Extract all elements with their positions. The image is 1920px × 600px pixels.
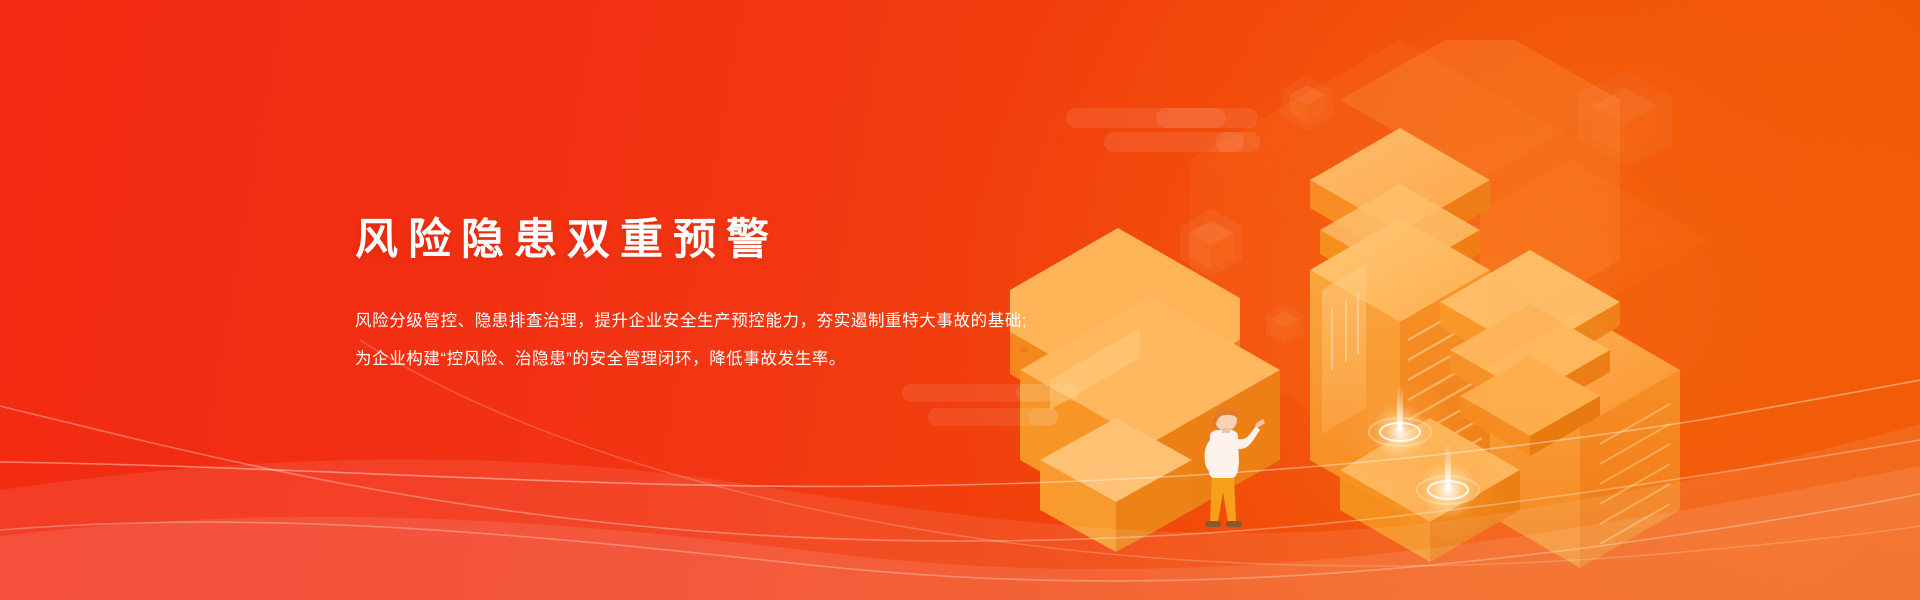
cloud-bar: [902, 384, 1052, 402]
cloud-bar: [1104, 132, 1244, 152]
cloud-bar: [1066, 108, 1226, 128]
banner-copy: 风险隐患双重预警 风险分级管控、隐患排查治理，提升企业安全生产预控能力，夯实遏制…: [355, 212, 1135, 378]
wave-fill-back: [0, 424, 1920, 600]
description-line-2: 为企业构建“控风险、治隐患”的安全管理闭环，降低事故发生率。: [355, 340, 1135, 378]
glow-ring-outer: [1368, 417, 1432, 447]
cloud-bar: [928, 408, 1058, 426]
floating-cube-icon-small: [1262, 300, 1308, 348]
glow-ring-inner: [1379, 422, 1421, 442]
glow-stem: [1445, 444, 1451, 490]
wave-fill-front: [0, 466, 1920, 600]
person-figure: [1186, 404, 1266, 544]
cloud-decoration-bottom: [888, 372, 1088, 444]
description-line-1: 风险分级管控、隐患排查治理，提升企业安全生产预控能力，夯实遏制重特大事故的基础;: [355, 302, 1135, 340]
glow-halo: [1340, 372, 1460, 492]
cloud-bar: [1016, 384, 1078, 402]
cloud-bar: [1156, 108, 1258, 128]
wave-decoration: [0, 340, 1920, 600]
wave-line-3: [0, 494, 1920, 581]
glow-stem: [1397, 386, 1403, 432]
page-title: 风险隐患双重预警: [355, 212, 1135, 268]
floating-hexagon-icon: [1278, 72, 1336, 134]
wave-line-2: [0, 406, 1920, 541]
floating-cube-icon: [1176, 205, 1246, 281]
wave-line-1: [0, 380, 1920, 486]
banner-description: 风险分级管控、隐患排查治理，提升企业安全生产预控能力，夯实遏制重特大事故的基础;…: [355, 302, 1135, 378]
cloud-bar: [1216, 132, 1260, 152]
cloud-decoration-top: [1048, 92, 1258, 168]
cloud-bar: [1028, 408, 1058, 426]
glow-halo: [1388, 430, 1508, 550]
glow-ring-inner: [1427, 480, 1469, 500]
floating-cube-icon-right: [1572, 66, 1678, 170]
glow-ring-outer: [1416, 475, 1480, 505]
risk-warning-banner: 风险隐患双重预警 风险分级管控、隐患排查治理，提升企业安全生产预控能力，夯实遏制…: [0, 0, 1920, 600]
